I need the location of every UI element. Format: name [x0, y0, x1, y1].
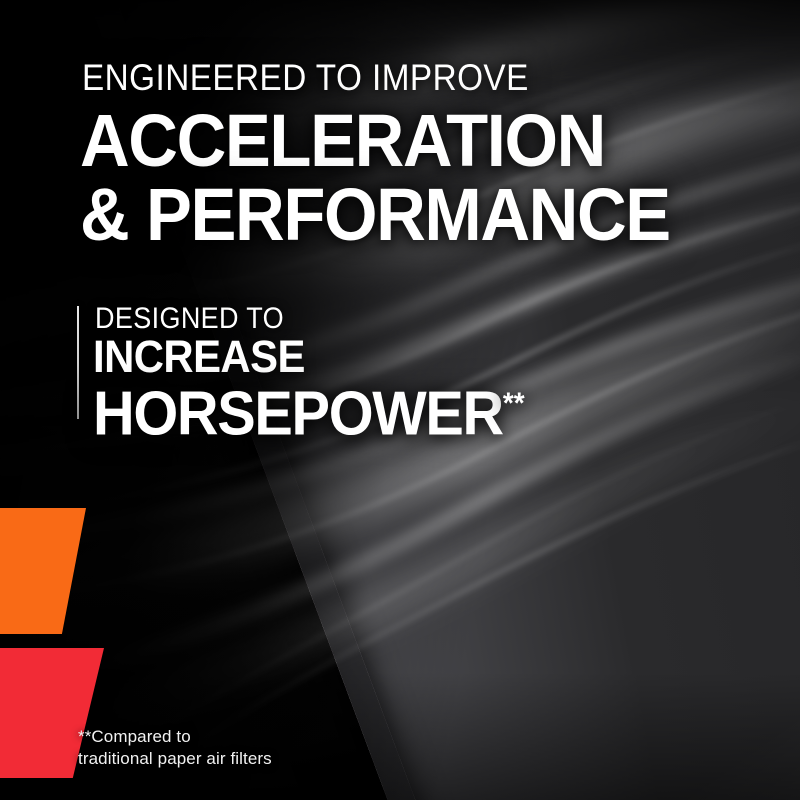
footnote-text: **Compared to traditional paper air filt… [78, 726, 272, 770]
subhead-horsepower: HORSEPOWER** [93, 371, 525, 448]
footnote-marker-asterisks: ** [503, 387, 525, 420]
banner-copy: ENGINEERED TO IMPROVE ACCELERATION & PER… [0, 0, 800, 800]
headline-and-performance: & PERFORMANCE [80, 176, 670, 254]
headline-acceleration: ACCELERATION [80, 102, 605, 180]
subhead-horsepower-text: HORSEPOWER [93, 380, 503, 449]
marketing-banner: ENGINEERED TO IMPROVE ACCELERATION & PER… [0, 0, 800, 800]
vertical-rule-divider [77, 306, 79, 419]
eyebrow-engineered-to-improve: ENGINEERED TO IMPROVE [82, 58, 529, 98]
